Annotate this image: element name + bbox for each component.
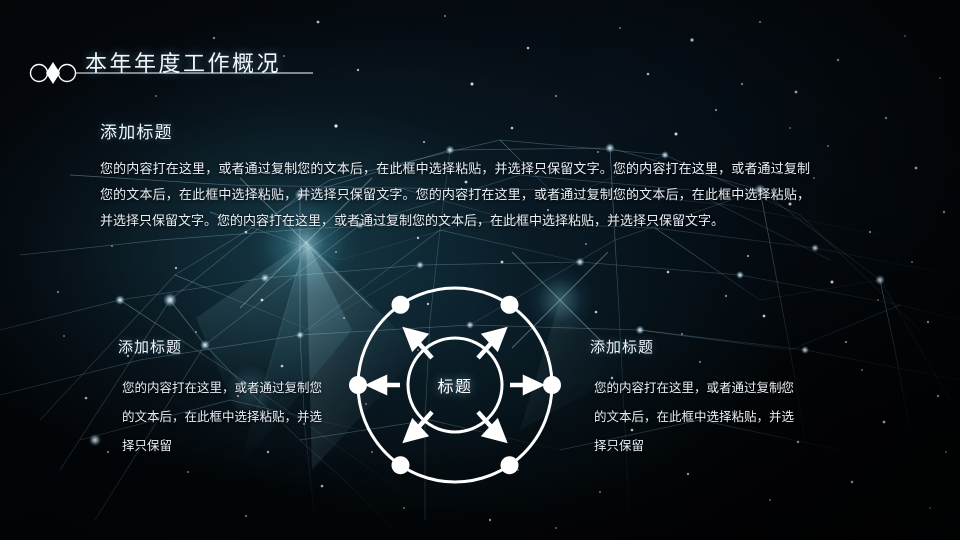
diagram-node-top-right xyxy=(501,296,519,314)
diagram-arrow-group xyxy=(370,330,540,440)
right-column-body: 您的内容打在这里，或者通过复制您的文本后，在此框中选择粘贴，并选择只保留 xyxy=(590,373,805,460)
right-column-title: 添加标题 xyxy=(590,336,805,357)
right-column: 添加标题 您的内容打在这里，或者通过复制您的文本后，在此框中选择粘贴，并选择只保… xyxy=(590,336,805,460)
diagram-arrow-right xyxy=(510,378,540,392)
intro-title: 添加标题 xyxy=(100,118,820,143)
diagram-node-right xyxy=(543,376,561,394)
radial-diagram: 标题 xyxy=(340,270,570,500)
diagram-node-bottom-left xyxy=(392,456,410,474)
diagram-node-left xyxy=(349,376,367,394)
left-column-title: 添加标题 xyxy=(118,336,333,357)
slide-header: 本年年度工作概况 xyxy=(0,0,960,110)
slide-canvas: 本年年度工作概况 添加标题 您的内容打在这里，或者通过复制您的文本后，在此框中选… xyxy=(0,0,960,540)
diagram-node-top-left xyxy=(392,296,410,314)
diagram-inner-ring xyxy=(408,338,502,432)
page-title: 本年年度工作概况 xyxy=(85,46,281,78)
left-column-body: 您的内容打在这里，或者通过复制您的文本后，在此框中选择粘贴，并选择只保留 xyxy=(118,373,333,460)
intro-block: 添加标题 您的内容打在这里，或者通过复制您的文本后，在此框中选择粘贴，并选择只保… xyxy=(100,118,820,235)
radial-diagram-graphic xyxy=(340,270,570,500)
intro-body-text: 您的内容打在这里，或者通过复制您的文本后，在此框中选择粘贴，并选择只保留文字。您… xyxy=(100,157,810,235)
diagram-node-bottom-right xyxy=(501,456,519,474)
left-column: 添加标题 您的内容打在这里，或者通过复制您的文本后，在此框中选择粘贴，并选择只保… xyxy=(118,336,333,460)
diagram-arrow-left xyxy=(370,378,400,392)
